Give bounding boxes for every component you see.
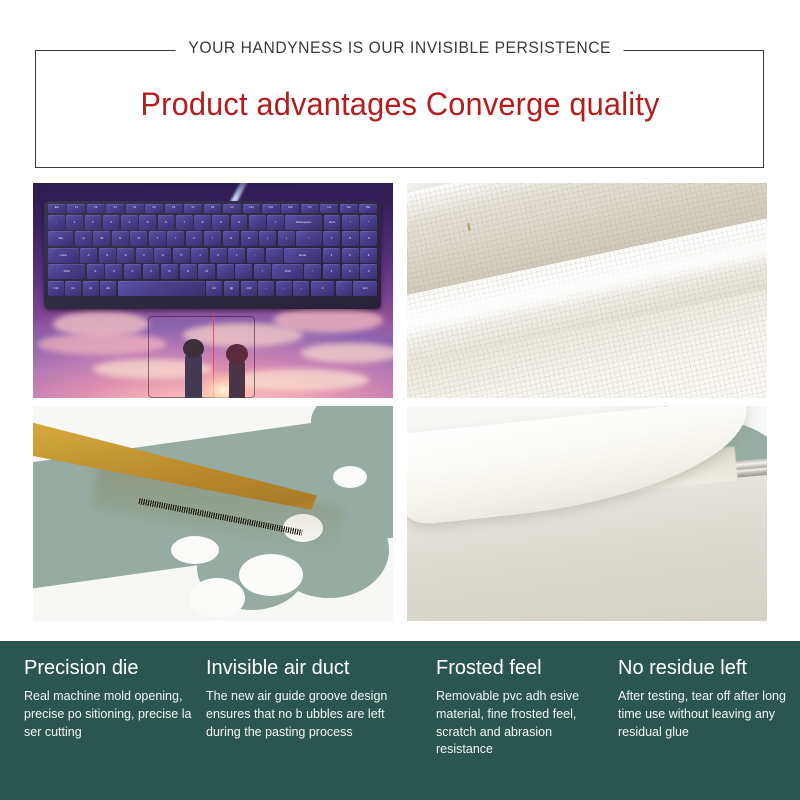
gallery-image-keyboard-skin[interactable]: EscF1F2F3 F4F5F6F7 F8F9F10F11 F12PrtInsD… [33, 183, 393, 398]
keyboard-row-shift: ShiftZXC VBNM ,./Shift ↑123 [48, 264, 377, 279]
feature-description: Removable pvc adh esive material, fine f… [436, 688, 604, 759]
figure-head [183, 339, 204, 358]
keyboard-row-function: EscF1F2F3 F4F5F6F7 F8F9F10F11 F12PrtInsD… [48, 204, 377, 213]
feature-description: The new air guide groove design ensures … [206, 688, 422, 741]
feature-item-frosted-feel: Frosted feel Removable pvc adh esive mat… [436, 657, 618, 800]
feature-item-precision-die: Precision die Real machine mold opening,… [24, 657, 206, 800]
die-cut-hole [239, 554, 303, 596]
feature-item-no-residue-left: No residue left After testing, tear off … [618, 657, 800, 800]
cloud-shape [273, 307, 383, 333]
feature-description: After testing, tear off after long time … [618, 688, 800, 741]
feature-title: Invisible air duct [206, 657, 422, 680]
gallery-image-sticker-peel[interactable] [407, 406, 767, 621]
keyboard-row-bottom: CtrlFn⊞Alt Alt▤Ctrl ←↓→0 .Ent [48, 281, 377, 296]
feature-title: No residue left [618, 657, 800, 680]
figure-silhouette [229, 360, 245, 398]
gallery-image-die-cut-blade[interactable] [33, 406, 393, 621]
keyboard-row-number: ~123 4567 890- =BackspaceNum /* [48, 215, 377, 230]
feature-panel: Precision die Real machine mold opening,… [0, 641, 800, 800]
feature-title: Precision die [24, 657, 192, 680]
product-image-gallery: EscF1F2F3 F4F5F6F7 F8F9F10F11 F12PrtInsD… [33, 183, 767, 621]
die-cut-hole [171, 536, 219, 564]
light-glow [193, 370, 255, 398]
die-cut-hole [189, 578, 245, 618]
header-subtitle-text: YOUR HANDYNESS IS OUR INVISIBLE PERSISTE… [176, 38, 624, 58]
header-banner: YOUR HANDYNESS IS OUR INVISIBLE PERSISTE… [0, 0, 800, 178]
keyboard-overlay: EscF1F2F3 F4F5F6F7 F8F9F10F11 F12PrtInsD… [44, 201, 381, 309]
cloud-shape [301, 343, 393, 363]
keyboard-row-top: TabQWE RTYU IOP[ ]\7 89 [48, 231, 377, 246]
page-title: Product advantages Converge quality [16, 86, 784, 123]
figure-silhouette [185, 354, 202, 398]
figure-head [226, 344, 248, 364]
die-cut-hole [333, 466, 367, 488]
feature-item-invisible-air-duct: Invisible air duct The new air guide gro… [206, 657, 436, 800]
gallery-image-frosted-film-roll[interactable] [407, 183, 767, 398]
header-subtitle: YOUR HANDYNESS IS OUR INVISIBLE PERSISTE… [0, 38, 800, 58]
feature-description: Real machine mold opening, precise po si… [24, 688, 192, 741]
feature-columns: Precision die Real machine mold opening,… [0, 641, 800, 800]
keyboard-row-home: CapsASD FGHJ KL;' Enter456 [48, 248, 377, 263]
feature-title: Frosted feel [436, 657, 604, 680]
